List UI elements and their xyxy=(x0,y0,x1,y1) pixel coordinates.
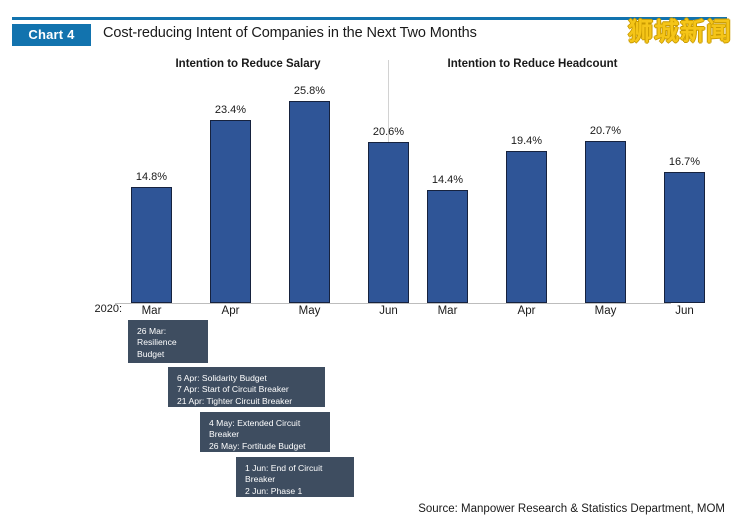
annotation-callout: 4 May: Extended Circuit Breaker 26 May: … xyxy=(200,412,330,452)
annotation-callout: 1 Jun: End of Circuit Breaker 2 Jun: Pha… xyxy=(236,457,354,497)
bar-intention-to-reduce-headcount-jun xyxy=(664,172,705,303)
panel-title-headcount: Intention to Reduce Headcount xyxy=(390,58,675,70)
chart-number-badge: Chart 4 xyxy=(12,24,91,46)
bar-value-label: 19.4% xyxy=(497,135,557,147)
x-tick-label: Mar xyxy=(418,305,478,317)
bar-intention-to-reduce-headcount-apr xyxy=(506,151,547,303)
x-tick-label: Apr xyxy=(201,305,261,317)
bar-value-label: 20.6% xyxy=(359,126,419,138)
bar-value-label: 23.4% xyxy=(201,104,261,116)
annotation-callout: 26 Mar: Resilience Budget xyxy=(128,320,208,363)
annotation-callout: 6 Apr: Solidarity Budget 7 Apr: Start of… xyxy=(168,367,325,407)
chart-page: Chart 4 Cost-reducing Intent of Companie… xyxy=(0,0,739,532)
page-title: Cost-reducing Intent of Companies in the… xyxy=(103,25,477,41)
bar-intention-to-reduce-headcount-mar xyxy=(427,190,468,303)
axis-year-label: 2020: xyxy=(82,303,122,315)
bar-value-label: 14.8% xyxy=(122,171,182,183)
watermark-text: 狮城新闻 xyxy=(628,12,732,48)
bar-intention-to-reduce-salary-jun xyxy=(368,142,409,303)
bar-value-label: 25.8% xyxy=(280,85,340,97)
bar-value-label: 16.7% xyxy=(655,156,715,168)
panel-title-salary: Intention to Reduce Salary xyxy=(108,58,388,70)
bar-intention-to-reduce-salary-mar xyxy=(131,187,172,303)
x-tick-label: May xyxy=(576,305,636,317)
x-tick-label: Jun xyxy=(359,305,419,317)
x-tick-label: Jun xyxy=(655,305,715,317)
bar-intention-to-reduce-headcount-may xyxy=(585,141,626,303)
header-rule xyxy=(12,17,727,20)
bar-value-label: 14.4% xyxy=(418,174,478,186)
x-tick-label: Apr xyxy=(497,305,557,317)
bar-intention-to-reduce-salary-may xyxy=(289,101,330,303)
x-tick-label: Mar xyxy=(122,305,182,317)
source-caption: Source: Manpower Research & Statistics D… xyxy=(418,503,725,515)
x-axis-line xyxy=(115,303,671,304)
bar-intention-to-reduce-salary-apr xyxy=(210,120,251,303)
bar-value-label: 20.7% xyxy=(576,125,636,137)
x-tick-label: May xyxy=(280,305,340,317)
